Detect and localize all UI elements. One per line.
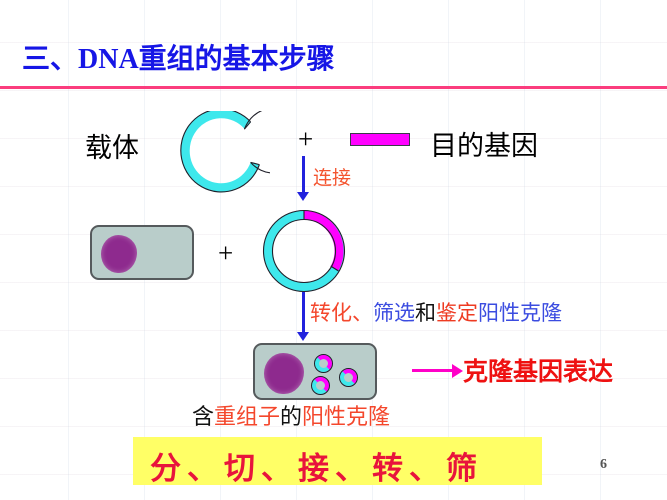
- clone-seg-positive-clone: 阳性克隆: [302, 404, 390, 429]
- plus-sign-ligation: +: [298, 124, 313, 155]
- transformed-nucleoid-icon: [264, 353, 304, 394]
- page-title: 三、DNA重组的基本步骤: [22, 37, 335, 77]
- plus-sign-transformation: +: [218, 238, 233, 269]
- clone-seg-recombinant: 重组子: [214, 404, 280, 429]
- expression-label: 克隆基因表达: [463, 352, 613, 388]
- transform-seg-transformation: 转化、: [310, 301, 373, 325]
- expression-arrow-head: [452, 364, 463, 378]
- transform-seg-positive-clone: 阳性克隆: [478, 301, 562, 325]
- transform-seg-identify: 鉴定: [436, 301, 478, 325]
- open-plasmid-ring-icon: [176, 111, 270, 193]
- positive-clone-caption: 含重组子的阳性克隆: [192, 399, 390, 431]
- nucleoid-icon: [101, 235, 137, 273]
- mini-plasmid-icon-2: [340, 369, 357, 386]
- vector-label: 载体: [85, 126, 139, 165]
- clone-seg-contain: 含: [192, 404, 214, 429]
- transform-seg-and: 和: [415, 301, 436, 325]
- transformation-step-label: 转化、筛选和鉴定阳性克隆: [310, 297, 562, 327]
- transformation-arrow-head: [297, 332, 309, 341]
- slide-canvas: 三、DNA重组的基本步骤 载体 + 目的基因 连接 +: [0, 0, 667, 500]
- mini-plasmid-icon-3: [312, 377, 329, 394]
- target-gene-label: 目的基因: [430, 124, 538, 163]
- transformed-bacterial-cell-icon: [253, 343, 377, 400]
- recombinant-plasmid-ring-icon: [256, 205, 352, 297]
- title-divider-rule: [0, 86, 667, 89]
- gene-bar-icon: [350, 133, 410, 146]
- clone-seg-de: 的: [280, 404, 302, 429]
- mini-plasmid-icon-1: [315, 355, 332, 372]
- bacterial-cell-icon: [90, 225, 194, 280]
- ligation-label: 连接: [313, 163, 351, 190]
- transform-seg-screening: 筛选: [373, 301, 415, 325]
- expression-arrow-shaft: [412, 369, 455, 372]
- transformation-arrow-shaft: [302, 292, 305, 334]
- ligation-arrow-head: [297, 192, 309, 201]
- summary-steps-text: 分、切、接、转、筛: [150, 443, 483, 488]
- page-number: 6: [600, 457, 607, 473]
- ligation-arrow-shaft: [302, 156, 305, 194]
